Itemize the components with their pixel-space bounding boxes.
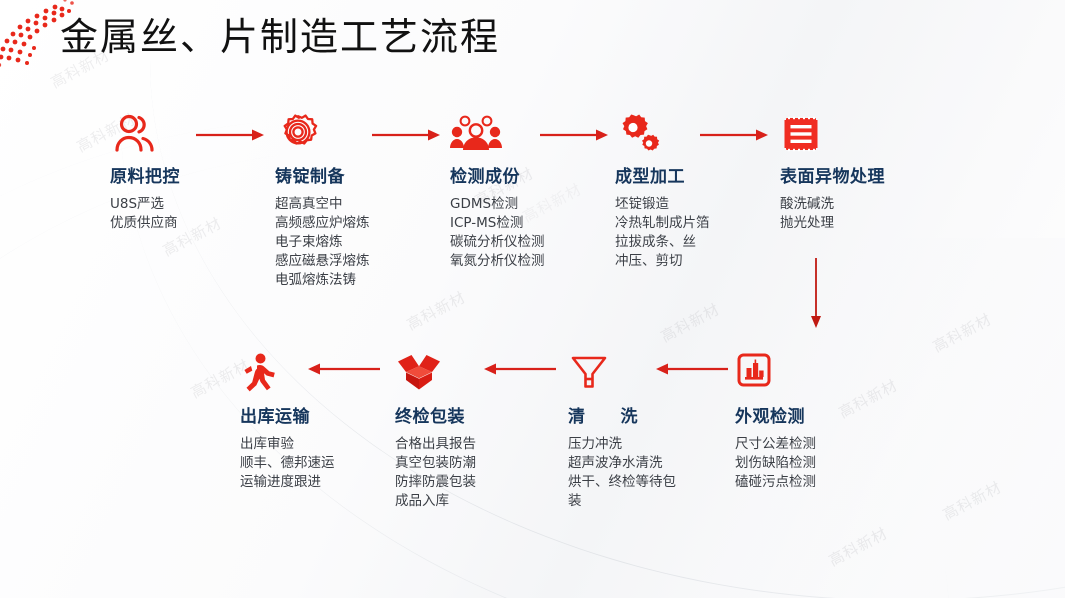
step-heading: 外观检测 [735, 402, 816, 427]
step-ingot-preparation[interactable]: 铸锭制备 超高真空中 高频感应炉熔炼 电子束熔炼 感应磁悬浮熔炼 电弧熔炼法铸 [275, 112, 370, 290]
flow-arrow-right [372, 128, 440, 142]
step-item: 酸洗碱洗 [780, 195, 885, 214]
step-heading: 检测成份 [450, 162, 545, 187]
user-group-icon [450, 112, 545, 156]
step-item: 高频感应炉熔炼 [275, 214, 370, 233]
inspection-badge-icon [735, 352, 816, 396]
step-item: 碳硫分析仪检测 [450, 233, 545, 252]
flow-arrow-right [196, 128, 264, 142]
step-item: 抛光处理 [780, 214, 885, 233]
step-item: 顺丰、德邦速运 [240, 454, 335, 473]
flow-arrow-left [484, 362, 556, 376]
step-heading: 出库运输 [240, 402, 335, 427]
gear-rings-icon [275, 112, 370, 156]
step-item: 感应磁悬浮熔炼 [275, 252, 370, 271]
step-heading: 原料把控 [110, 162, 180, 187]
step-heading: 表面异物处理 [780, 162, 885, 187]
step-item: 氧氮分析仪检测 [450, 252, 545, 271]
double-gear-icon [615, 112, 710, 156]
flow-arrow-right [700, 128, 768, 142]
step-appearance-inspection[interactable]: 外观检测 尺寸公差检测 划伤缺陷检测 磕碰污点检测 [735, 352, 816, 492]
step-item: 尺寸公差检测 [735, 435, 816, 454]
step-item: 压力冲洗 [568, 435, 684, 454]
step-item: 电子束熔炼 [275, 233, 370, 252]
step-item: 冲压、剪切 [615, 252, 710, 271]
step-item: 划伤缺陷检测 [735, 454, 816, 473]
page-title: 金属丝、片制造工艺流程 [60, 6, 500, 61]
step-heading: 清 洗 [568, 402, 684, 427]
step-item: 冷热轧制成片箔 [615, 214, 710, 233]
step-raw-material-control[interactable]: 原料把控 U8S严选 优质供应商 [110, 112, 180, 233]
step-item: U8S严选 [110, 195, 180, 214]
flow-arrow-down [808, 258, 824, 330]
slide-canvas: 高科新材 高科新材 高科新材 高科新材 高科新材 高科新材 高科新材 高科新材 … [0, 0, 1065, 598]
step-surface-treatment[interactable]: 表面异物处理 酸洗碱洗 抛光处理 [780, 112, 885, 233]
step-item: 优质供应商 [110, 214, 180, 233]
step-item: 烘干、终检等待包装 [568, 473, 684, 511]
flow-arrow-left [308, 362, 380, 376]
step-item: 成品入库 [395, 492, 476, 511]
step-item: GDMS检测 [450, 195, 545, 214]
step-item: 超高真空中 [275, 195, 370, 214]
flow-arrow-right [540, 128, 608, 142]
step-item: 出库审验 [240, 435, 335, 454]
open-box-icon [395, 352, 476, 396]
step-composition-testing[interactable]: 检测成份 GDMS检测 ICP-MS检测 碳硫分析仪检测 氧氮分析仪检测 [450, 112, 545, 271]
step-final-inspection-packaging[interactable]: 终检包装 合格出具报告 真空包装防潮 防摔防震包装 成品入库 [395, 352, 476, 511]
step-heading: 终检包装 [395, 402, 476, 427]
step-item: ICP-MS检测 [450, 214, 545, 233]
two-users-icon [110, 112, 180, 156]
step-forming-processing[interactable]: 成型加工 坯锭锻造 冷热轧制成片箔 拉拔成条、丝 冲压、剪切 [615, 112, 710, 271]
step-item: 磕碰污点检测 [735, 473, 816, 492]
step-item: 坯锭锻造 [615, 195, 710, 214]
step-item: 电弧熔炼法铸 [275, 271, 370, 290]
document-lines-icon [780, 112, 885, 156]
step-item: 真空包装防潮 [395, 454, 476, 473]
step-item: 运输进度跟进 [240, 473, 335, 492]
step-item: 超声波净水清洗 [568, 454, 684, 473]
step-heading: 铸锭制备 [275, 162, 370, 187]
step-item: 合格出具报告 [395, 435, 476, 454]
step-item: 拉拔成条、丝 [615, 233, 710, 252]
flow-arrow-left [656, 362, 728, 376]
step-heading: 成型加工 [615, 162, 710, 187]
step-item: 防摔防震包装 [395, 473, 476, 492]
